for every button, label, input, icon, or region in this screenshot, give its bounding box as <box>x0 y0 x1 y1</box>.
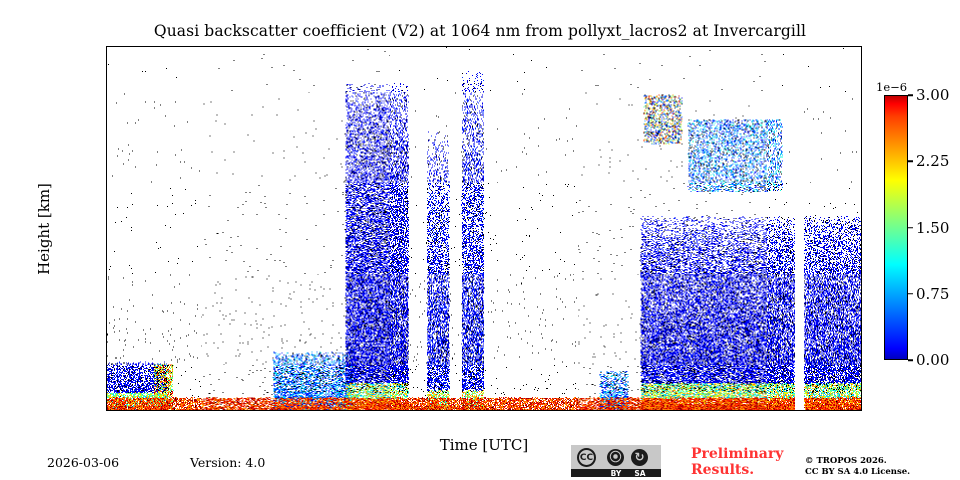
x-tick-mark-minor <box>390 410 391 411</box>
x-tick-mark <box>736 410 738 411</box>
lidar-quicklook-figure: Quasi backscatter coefficient (V2) at 10… <box>0 0 960 480</box>
y-tick-mark <box>106 314 107 316</box>
cc-sa-sharealike-icon: ↻ <box>631 449 648 466</box>
x-tick-mark-minor <box>705 410 706 411</box>
x-tick-mark-minor <box>327 410 328 411</box>
cc-badge-icons: CC ⦿ ↻ <box>571 445 661 469</box>
y-tick-mark <box>106 71 107 73</box>
y-tick-mark-minor <box>106 46 107 47</box>
y-tick-mark <box>106 168 107 170</box>
backscatter-heatmap <box>107 47 861 410</box>
person-glyph: ⦿ <box>607 450 624 465</box>
y-tick-mark-minor <box>106 95 107 96</box>
preliminary-line-2: Results. <box>691 463 783 479</box>
colorbar-tick-mark <box>908 94 913 96</box>
x-tick-mark-minor <box>831 410 832 411</box>
footer-date: 2026-03-06 <box>47 455 119 470</box>
colorbar-tick-label: 3.00 <box>916 86 949 104</box>
x-tick-mark-minor <box>264 410 265 411</box>
y-tick-mark <box>106 119 107 121</box>
footer-version: Version: 4.0 <box>190 455 265 470</box>
cc-text: CC <box>579 450 594 465</box>
y-tick-mark-minor <box>106 387 107 388</box>
colorbar-tick-label: 0.75 <box>916 285 949 303</box>
cc-by-person-icon: ⦿ <box>607 449 624 466</box>
colorbar-offset-label: 1e−6 <box>876 80 907 94</box>
x-tick-mark-minor <box>579 410 580 411</box>
y-axis-label-text: Height [km] <box>35 183 53 275</box>
y-tick-mark <box>106 217 107 219</box>
x-tick-mark-minor <box>295 410 296 411</box>
colorbar-tick-mark <box>908 359 913 361</box>
x-tick-mark <box>358 410 360 411</box>
x-tick-mark-minor <box>799 410 800 411</box>
x-tick-mark-minor <box>106 410 107 411</box>
copyright-line-1: © TROPOS 2026. <box>805 456 910 467</box>
colorbar-tick-mark <box>908 293 913 295</box>
preliminary-line-1: Preliminary <box>691 447 783 463</box>
y-tick-mark <box>106 363 107 365</box>
colorbar-tick-label: 2.25 <box>916 152 949 170</box>
x-tick-mark-minor <box>169 410 170 411</box>
page-title: Quasi backscatter coefficient (V2) at 10… <box>0 22 960 40</box>
copyright-note: © TROPOS 2026. CC BY SA 4.0 License. <box>805 456 910 479</box>
colorbar-tick-label: 0.00 <box>916 351 949 369</box>
y-axis-label: Height [km] <box>34 46 54 411</box>
colorbar-tick-mark <box>908 227 913 229</box>
x-tick-mark-minor <box>673 410 674 411</box>
x-tick-mark-minor <box>768 410 769 411</box>
x-tick-mark-minor <box>453 410 454 411</box>
x-tick-mark-minor <box>138 410 139 411</box>
x-tick-mark-minor <box>547 410 548 411</box>
y-tick-mark-minor <box>106 241 107 242</box>
x-tick-mark-minor <box>642 410 643 411</box>
cc-license-badge[interactable]: CC ⦿ ↻ BY SA <box>571 445 661 477</box>
x-tick-mark <box>484 410 486 411</box>
preliminary-results-note: Preliminary Results. <box>691 447 783 478</box>
colorbar-tick-label: 1.50 <box>916 219 949 237</box>
x-tick-mark-minor <box>201 410 202 411</box>
y-tick-mark-minor <box>106 192 107 193</box>
y-tick-mark-minor <box>106 144 107 145</box>
y-tick-mark-minor <box>106 338 107 339</box>
colorbar-tick-mark <box>908 161 913 163</box>
y-tick-mark <box>106 265 107 267</box>
plot-area: 2468101214 04:0008:0012:0016:0020:00 <box>106 46 862 411</box>
x-tick-mark <box>232 410 234 411</box>
x-tick-mark-minor <box>516 410 517 411</box>
y-tick-mark-minor <box>106 290 107 291</box>
cc-by-label: BY <box>606 469 626 478</box>
copyright-line-2: CC BY SA 4.0 License. <box>805 467 910 478</box>
x-tick-mark <box>610 410 612 411</box>
sharealike-glyph: ↻ <box>631 450 648 465</box>
heatmap-canvas-holder <box>107 47 861 410</box>
x-tick-mark-minor <box>421 410 422 411</box>
cc-sa-label: SA <box>630 469 650 478</box>
colorbar <box>884 95 908 360</box>
